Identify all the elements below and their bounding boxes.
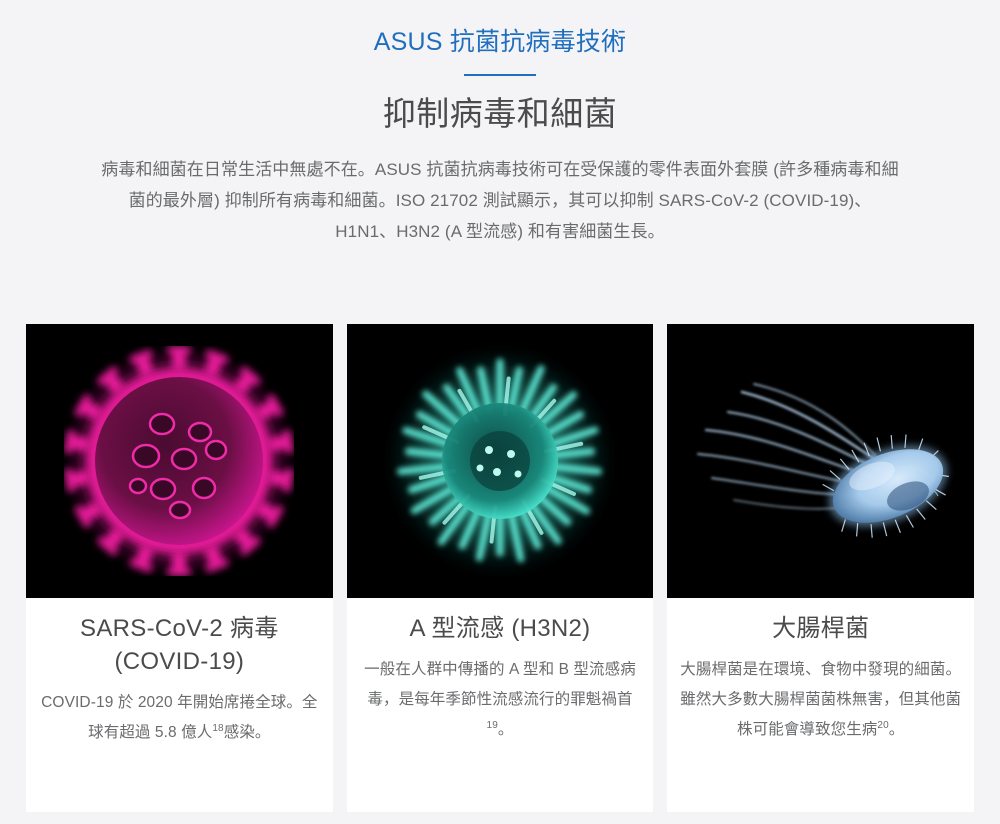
card-title: 大腸桿菌 bbox=[679, 612, 962, 645]
card-description: 一般在人群中傳播的 A 型和 B 型流感病毒，是每年季節性流感流行的罪魁禍首19… bbox=[359, 655, 642, 745]
coronavirus-particle-image bbox=[26, 324, 333, 598]
card-description-text: 大腸桿菌是在環境、食物中發現的細菌。雖然大多數大腸桿菌菌株無害，但其他菌株可能會… bbox=[680, 661, 961, 738]
card-title-line2: (COVID-19) bbox=[114, 648, 244, 675]
card-influenza-a[interactable]: A 型流感 (H3N2) 一般在人群中傳播的 A 型和 B 型流感病毒，是每年季… bbox=[347, 324, 654, 812]
card-description: COVID-19 於 2020 年開始席捲全球。全球有超過 5.8 億人18感染… bbox=[38, 688, 321, 748]
page-title: 抑制病毒和細菌 bbox=[0, 92, 1000, 136]
page-root: ASUS 抗菌抗病毒技術 抑制病毒和細菌 病毒和細菌在日常生活中無處不在。ASU… bbox=[0, 0, 1000, 824]
card-grid: SARS-CoV-2 病毒 (COVID-19) COVID-19 於 2020… bbox=[26, 324, 974, 812]
influenza-virus-image bbox=[347, 324, 654, 598]
card-description-text: 一般在人群中傳播的 A 型和 B 型流感病毒，是每年季節性流感流行的罪魁禍首 bbox=[364, 661, 636, 708]
card-description-tail: 感染。 bbox=[224, 724, 271, 741]
intro-paragraph: 病毒和細菌在日常生活中無處不在。ASUS 抗菌抗病毒技術可在受保護的零件表面外套… bbox=[100, 154, 900, 247]
card-description: 大腸桿菌是在環境、食物中發現的細菌。雖然大多數大腸桿菌菌株無害，但其他菌株可能會… bbox=[679, 655, 962, 745]
footnote-marker: 20 bbox=[877, 720, 888, 731]
header-divider bbox=[464, 74, 536, 76]
card-description-text: COVID-19 於 2020 年開始席捲全球。全球有超過 5.8 億人 bbox=[41, 694, 317, 741]
card-title: SARS-CoV-2 病毒 (COVID-19) bbox=[38, 612, 321, 678]
influenza-icon bbox=[385, 346, 615, 576]
card-title: A 型流感 (H3N2) bbox=[359, 612, 642, 645]
ecoli-bacterium-image bbox=[667, 324, 974, 598]
card-title-line1: 大腸桿菌 bbox=[772, 615, 869, 642]
card-title-line1: A 型流感 (H3N2) bbox=[410, 615, 591, 642]
ecoli-artwork bbox=[667, 324, 974, 598]
card-description-tail: 。 bbox=[889, 721, 905, 738]
footnote-marker: 19 bbox=[487, 720, 498, 731]
card-description-tail: 。 bbox=[498, 721, 514, 738]
card-body: SARS-CoV-2 病毒 (COVID-19) COVID-19 於 2020… bbox=[26, 598, 333, 812]
card-ecoli[interactable]: 大腸桿菌 大腸桿菌是在環境、食物中發現的細菌。雖然大多數大腸桿菌菌株無害，但其他… bbox=[667, 324, 974, 812]
section-eyebrow: ASUS 抗菌抗病毒技術 bbox=[0, 26, 1000, 58]
card-body: 大腸桿菌 大腸桿菌是在環境、食物中發現的細菌。雖然大多數大腸桿菌菌株無害，但其他… bbox=[667, 598, 974, 812]
ecoli-icon bbox=[676, 336, 966, 586]
header-section: ASUS 抗菌抗病毒技術 抑制病毒和細菌 病毒和細菌在日常生活中無處不在。ASU… bbox=[0, 0, 1000, 247]
card-sars-cov-2[interactable]: SARS-CoV-2 病毒 (COVID-19) COVID-19 於 2020… bbox=[26, 324, 333, 812]
card-body: A 型流感 (H3N2) 一般在人群中傳播的 A 型和 B 型流感病毒，是每年季… bbox=[347, 598, 654, 812]
card-title-line1: SARS-CoV-2 病毒 bbox=[80, 615, 279, 642]
coronavirus-artwork bbox=[26, 324, 333, 598]
coronavirus-icon bbox=[64, 346, 294, 576]
footnote-marker: 18 bbox=[212, 723, 223, 734]
influenza-artwork bbox=[347, 324, 654, 598]
